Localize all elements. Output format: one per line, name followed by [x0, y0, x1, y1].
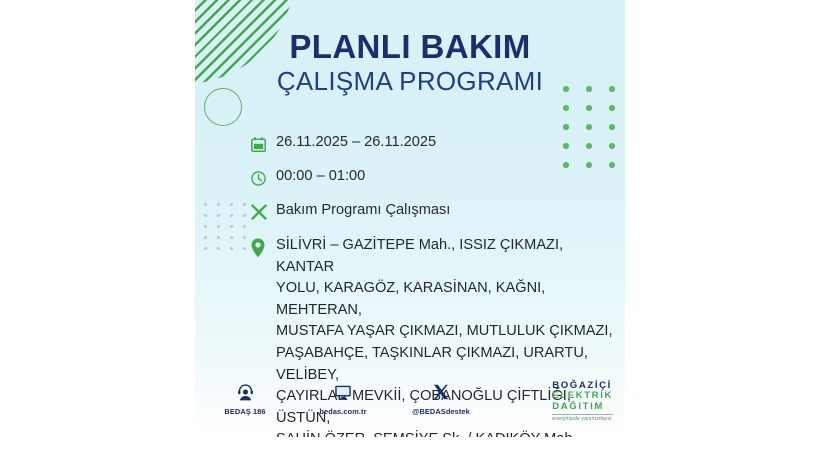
- time-range-text: 00:00 – 01:00: [276, 167, 365, 186]
- address-line: MUSTAFA YAŞAR ÇIKMAZI, MUTLULUK ÇIKMAZI,: [276, 321, 620, 343]
- poster-footer: BEDAŞ 186 bedas.com.tr: [195, 380, 625, 430]
- x-twitter-icon: [405, 380, 477, 404]
- logo-tagline: enerjimizde yanınızdayız: [552, 414, 613, 423]
- info-row-date: 26.11.2025 – 26.11.2025: [250, 133, 620, 155]
- contact-social[interactable]: @BEDASdestek: [405, 380, 477, 416]
- work-type-text: Bakım Programı Çalışması: [276, 201, 450, 220]
- contact-list: BEDAŞ 186 bedas.com.tr: [209, 380, 477, 416]
- page-subtitle: ÇALIŞMA PROGRAMI: [195, 67, 625, 97]
- contact-phone-label: BEDAŞ 186: [209, 407, 281, 416]
- monitor-icon: [307, 380, 379, 404]
- clock-icon: [250, 167, 276, 189]
- calendar-icon: [250, 133, 276, 155]
- poster-heading: PLANLI BAKIM ÇALIŞMA PROGRAMI: [195, 30, 625, 97]
- date-range-text: 26.11.2025 – 26.11.2025: [276, 133, 436, 152]
- support-agent-icon: [209, 380, 281, 404]
- contact-phone[interactable]: BEDAŞ 186: [209, 380, 281, 416]
- screenshot-canvas: PLANLI BAKIM ÇALIŞMA PROGRAMI 26.11.2025…: [0, 0, 820, 461]
- address-line: YOLU, KARAGÖZ, KARASİNAN, KAĞNI, MEHTERA…: [276, 278, 620, 321]
- dot-grid-left-decoration: [204, 203, 256, 258]
- address-line: ŞAHİN ÖZER, ŞEMSİYE Sk. / KADIKÖY Mah., …: [276, 429, 620, 437]
- bedas-logo: BOĞAZİÇİ ELEKTRİK DAĞITIM enerjimizde ya…: [552, 381, 613, 422]
- info-row-time: 00:00 – 01:00: [250, 167, 620, 189]
- info-row-worktype: Bakım Programı Çalışması: [250, 201, 620, 223]
- logo-line-3: DAĞITIM: [552, 402, 613, 412]
- address-line: SİLİVRİ – GAZİTEPE Mah., ISSIZ ÇIKMAZI, …: [276, 235, 620, 278]
- maintenance-schedule-poster: PLANLI BAKIM ÇALIŞMA PROGRAMI 26.11.2025…: [195, 0, 625, 437]
- location-pin-icon: [250, 235, 276, 259]
- tools-icon: [250, 201, 276, 223]
- contact-social-label: @BEDASdestek: [405, 407, 477, 416]
- contact-website[interactable]: bedas.com.tr: [307, 380, 379, 416]
- page-title: PLANLI BAKIM: [195, 30, 625, 64]
- contact-website-label: bedas.com.tr: [307, 407, 379, 416]
